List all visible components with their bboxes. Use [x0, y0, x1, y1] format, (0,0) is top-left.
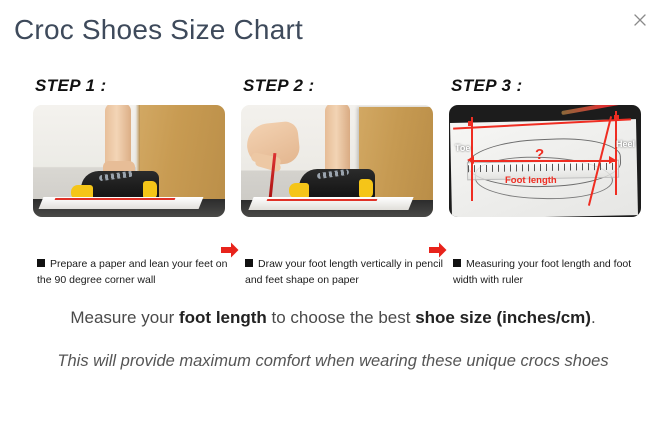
red-heel-line [615, 111, 617, 195]
step-3: STEP 3 : Toe Heel [449, 76, 649, 217]
measure-part-2: to choose the best [267, 308, 415, 327]
measure-arrow-left [467, 156, 474, 164]
toe-label: Toe [455, 143, 470, 153]
step-2-photo [241, 105, 433, 217]
measure-arrow-right [609, 156, 616, 164]
foot-length-label: Foot length [505, 175, 557, 186]
page-title: Croc Shoes Size Chart [14, 8, 303, 52]
step-2-label: STEP 2 : [243, 76, 441, 96]
step-1: STEP 1 : [33, 76, 233, 217]
bullet-icon [453, 259, 461, 267]
step-2: STEP 2 : [241, 76, 441, 217]
step-1-caption-text: Prepare a paper and lean your feet on th… [37, 258, 227, 286]
close-icon[interactable] [626, 6, 654, 34]
heel-label: Heel [616, 139, 635, 149]
step-2-caption: Draw your foot length vertically in penc… [245, 256, 445, 288]
step-3-photo: Toe Heel ? Foot length [449, 105, 641, 217]
step-1-photo [33, 105, 225, 217]
step-1-label: STEP 1 : [35, 76, 233, 96]
measure-part-1: Measure your [70, 308, 179, 327]
measure-bold-shoe-size: shoe size (inches/cm) [415, 308, 591, 327]
measure-instruction: Measure your foot length to choose the b… [0, 306, 666, 330]
red-guide-line [55, 198, 176, 200]
step-3-caption: Measuring your foot length and foot widt… [453, 256, 653, 288]
measure-part-3: . [591, 308, 596, 327]
step-3-caption-text: Measuring your foot length and foot widt… [453, 258, 631, 286]
close-icon-glyph [626, 6, 654, 34]
leg [325, 105, 350, 175]
step-2-caption-text: Draw your foot length vertically in penc… [245, 258, 443, 286]
red-guide-line [267, 199, 378, 201]
bullet-icon [37, 259, 45, 267]
red-corner-marker-right [614, 115, 619, 120]
step-3-label: STEP 3 : [451, 76, 649, 96]
question-mark-label: ? [535, 147, 544, 162]
measure-bold-foot-length: foot length [179, 308, 267, 327]
bullet-icon [245, 259, 253, 267]
step-1-caption: Prepare a paper and lean your feet on th… [37, 256, 237, 288]
red-corner-marker-left [468, 121, 473, 126]
yellow-heel [359, 179, 373, 198]
size-chart-modal: Croc Shoes Size Chart STEP 1 : [0, 0, 666, 432]
comfort-note: This will provide maximum comfort when w… [20, 348, 646, 374]
